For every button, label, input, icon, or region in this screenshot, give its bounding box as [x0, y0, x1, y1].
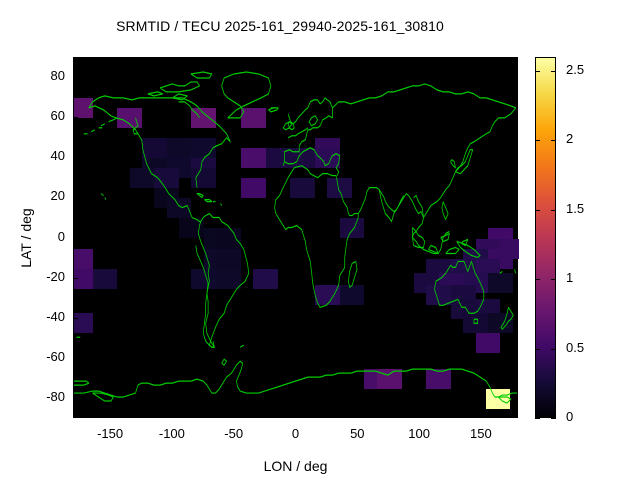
y-tick-label: -80	[19, 389, 65, 404]
y-tick-label: 0	[19, 229, 65, 244]
x-tick	[296, 413, 297, 418]
y-tick	[73, 157, 78, 158]
colorbar-tick	[551, 349, 556, 350]
plot-root: SRMTID / TECU 2025-161_29940-2025-161_30…	[0, 0, 640, 480]
x-tick-label: -50	[204, 426, 264, 441]
colorbar-tick	[535, 140, 540, 141]
x-tick	[110, 57, 111, 62]
y-tick	[73, 238, 78, 239]
y-tick	[73, 77, 78, 78]
x-tick-label: 50	[327, 426, 387, 441]
map-plot-area	[73, 57, 518, 418]
x-axis-title: LON / deg	[73, 458, 518, 474]
y-tick	[73, 398, 78, 399]
y-tick	[513, 157, 518, 158]
colorbar-tick	[551, 418, 556, 419]
colorbar-tick	[551, 71, 556, 72]
colorbar-tick	[551, 279, 556, 280]
y-tick	[513, 77, 518, 78]
x-tick	[234, 57, 235, 62]
colorbar-tick-label: 2.5	[566, 62, 584, 77]
y-tick	[513, 278, 518, 279]
x-tick	[419, 413, 420, 418]
x-tick	[481, 413, 482, 418]
y-tick	[513, 318, 518, 319]
y-tick	[513, 358, 518, 359]
y-tick	[73, 358, 78, 359]
x-tick-label: -150	[80, 426, 140, 441]
y-tick-label: -60	[19, 349, 65, 364]
x-tick-label: 100	[389, 426, 449, 441]
y-tick-label: 60	[19, 108, 65, 123]
y-tick	[513, 238, 518, 239]
page-title: SRMTID / TECU 2025-161_29940-2025-161_30…	[0, 18, 560, 34]
x-tick	[110, 413, 111, 418]
y-tick	[73, 318, 78, 319]
x-tick	[481, 57, 482, 62]
colorbar-tick	[535, 418, 540, 419]
y-tick-label: 20	[19, 188, 65, 203]
colorbar	[535, 57, 556, 418]
x-tick	[172, 413, 173, 418]
x-tick-label: 0	[266, 426, 326, 441]
coastline-layer	[74, 58, 517, 417]
colorbar-tick-label: 0.5	[566, 340, 584, 355]
y-tick	[513, 197, 518, 198]
x-tick	[172, 57, 173, 62]
x-tick	[419, 57, 420, 62]
colorbar-tick-label: 2	[566, 131, 573, 146]
colorbar-tick	[535, 279, 540, 280]
y-tick	[73, 278, 78, 279]
y-tick-label: -40	[19, 309, 65, 324]
colorbar-tick-label: 1.5	[566, 201, 584, 216]
x-tick	[357, 57, 358, 62]
colorbar-tick	[535, 349, 540, 350]
colorbar-tick-label: 1	[566, 270, 573, 285]
y-tick	[73, 117, 78, 118]
x-tick-label: 150	[451, 426, 511, 441]
y-tick	[73, 197, 78, 198]
colorbar-tick-label: 0	[566, 409, 573, 424]
colorbar-tick	[535, 71, 540, 72]
y-tick-label: 80	[19, 68, 65, 83]
colorbar-tick	[551, 140, 556, 141]
x-tick	[357, 413, 358, 418]
colorbar-tick	[535, 210, 540, 211]
x-tick-label: -100	[142, 426, 202, 441]
y-tick-label: 40	[19, 148, 65, 163]
x-tick	[234, 413, 235, 418]
x-tick	[296, 57, 297, 62]
y-tick	[513, 398, 518, 399]
colorbar-tick	[551, 210, 556, 211]
y-tick-label: -20	[19, 269, 65, 284]
y-tick	[513, 117, 518, 118]
